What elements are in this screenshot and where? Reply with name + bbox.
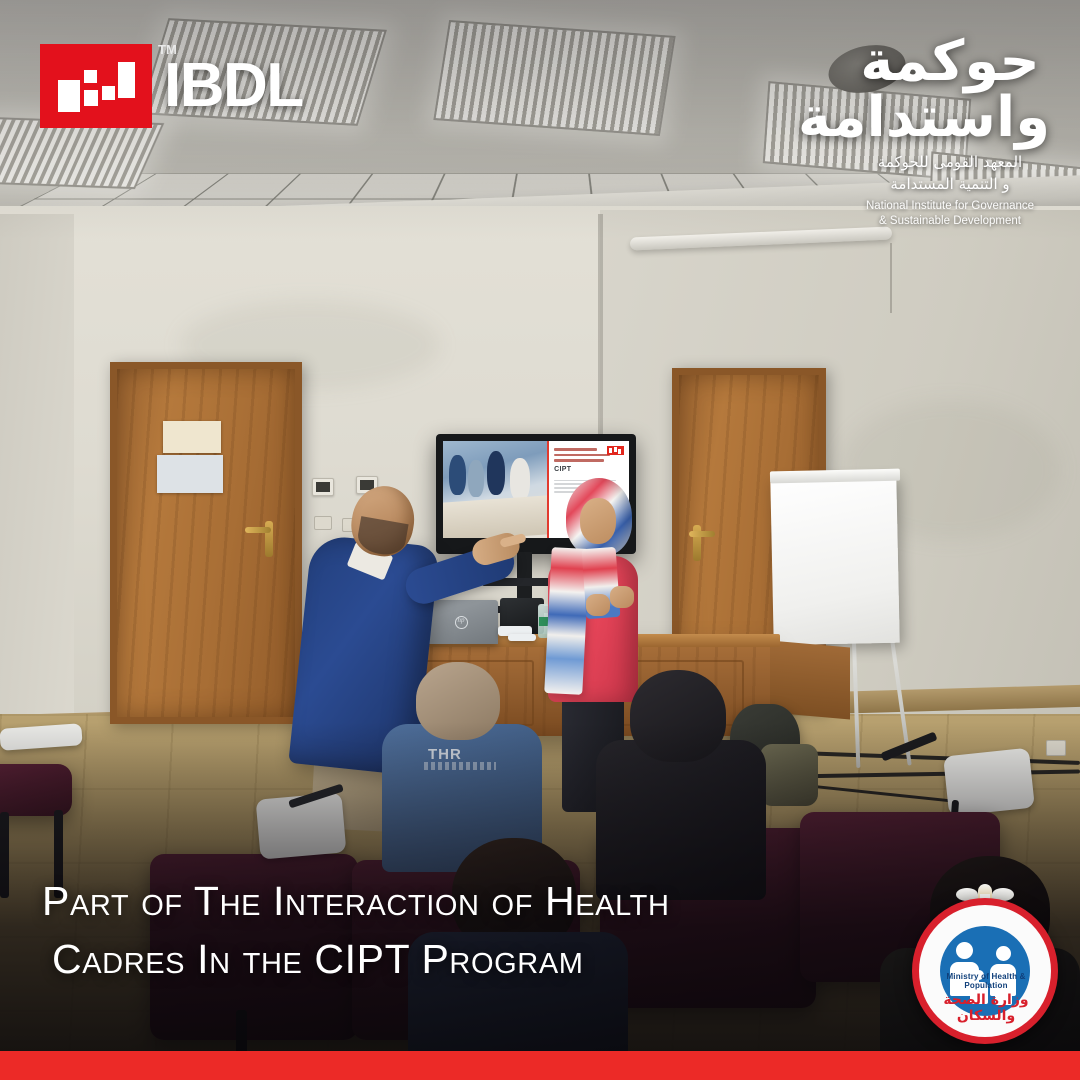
flipchart-paper: [770, 475, 899, 646]
hp-logo-icon: [455, 616, 468, 629]
slide-program-code: CIPT: [554, 466, 624, 473]
wall-socket: [314, 516, 332, 530]
chair-leg: [0, 812, 9, 898]
nigsd-calligraphy: حوكمة واستدامة: [850, 34, 1050, 146]
ibdl-bar-mark-icon: TM: [40, 44, 152, 128]
presenter-female-hand: [586, 594, 610, 616]
family-figure-icon: [996, 946, 1011, 961]
ministry-arabic-text: وزارة الصحة والسكان: [922, 992, 1050, 1024]
ministry-of-health-logo: Ministry of Health & Population وزارة ال…: [904, 880, 1066, 1042]
door-lever[interactable]: [689, 531, 715, 537]
caption-text: Part of The Interaction of Health Cadres…: [42, 872, 742, 988]
audience-person-hijab: [630, 670, 726, 762]
wall-socket: [1046, 740, 1066, 756]
ibdl-wordmark: IBDL: [164, 55, 303, 117]
door-lever[interactable]: [245, 527, 271, 533]
desk-paper: [508, 634, 536, 641]
nigsd-english-line-1: National Institute for Governance: [850, 199, 1050, 215]
trademark-symbol: TM: [158, 42, 177, 57]
caption-line-1: Part of The Interaction of Health: [42, 878, 670, 924]
caption-line-2: Cadres In the CIPT Program: [42, 930, 742, 988]
presenter-female-face: [580, 498, 616, 544]
slide-ibdl-logo: [607, 446, 624, 455]
door-left[interactable]: [110, 362, 302, 724]
slide-photo: [443, 441, 547, 538]
slide-figure: [487, 451, 506, 496]
slide-table: [443, 495, 547, 538]
slide-figure: [468, 460, 484, 497]
poster-canvas: CIPT: [0, 0, 1080, 1080]
nigsd-arabic-line-1: المعهد القومى للحوكمة: [850, 152, 1050, 174]
presenter-female-hand: [610, 586, 634, 608]
floor-bag: [760, 744, 818, 806]
wall-control-switch[interactable]: [312, 478, 334, 496]
thr-shirt-subtext: [424, 762, 496, 770]
ministry-english-text: Ministry of Health & Population: [926, 972, 1046, 990]
slide-figure: [510, 458, 531, 501]
nigsd-english-line-2: & Sustainable Development: [850, 214, 1050, 230]
door-notice: [163, 421, 221, 453]
nigsd-arabic-line-2: و التنمية المستدامة: [850, 174, 1050, 196]
left-wall: [0, 214, 74, 754]
family-figure-icon: [956, 942, 973, 959]
chair-seat[interactable]: [0, 764, 72, 816]
nigsd-logo: حوكمة واستدامة المعهد القومى للحوكمة و ا…: [850, 34, 1050, 230]
hanging-wire: [890, 243, 892, 313]
ceiling-light-panel: [433, 20, 675, 136]
door-notice: [157, 455, 223, 493]
audience-person-head: [416, 662, 500, 740]
ibdl-logo: TM IBDL: [40, 44, 303, 128]
bottom-red-bar: [0, 1051, 1080, 1080]
slide-figure: [449, 455, 466, 496]
